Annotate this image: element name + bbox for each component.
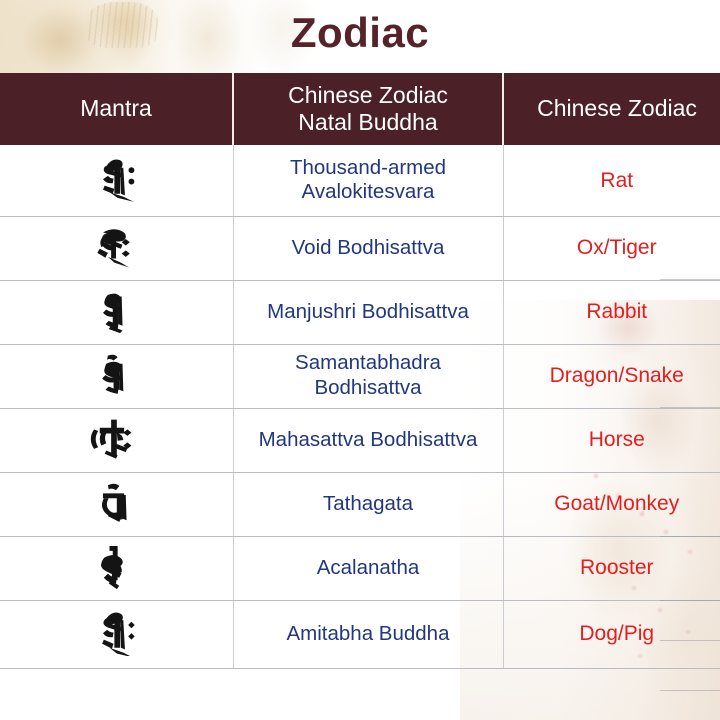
chinese-zodiac-cell: Dragon/Snake [503, 344, 720, 408]
chinese-zodiac-cell: Goat/Monkey [503, 472, 720, 536]
table-row: Manjushri BodhisattvaRabbit [0, 280, 720, 344]
table-body: Thousand-armedAvalokitesvaraRat Void Bod… [0, 145, 720, 668]
mantra-cell [0, 600, 233, 668]
title-bar: Zodiac [0, 0, 720, 72]
siddham-seed-syllable-tram-icon [90, 221, 142, 270]
table-header-row: Mantra Chinese Zodiac Natal Buddha Chine… [0, 73, 720, 145]
natal-buddha-line2: Bodhisattva [314, 376, 421, 399]
natal-buddha-cell: Amitabha Buddha [233, 600, 503, 668]
chinese-zodiac-cell: Rat [503, 145, 720, 216]
natal-buddha-cell: Thousand-armedAvalokitesvara [233, 145, 503, 216]
column-header-natal-buddha-line1: Chinese Zodiac [288, 82, 448, 108]
zodiac-table: Mantra Chinese Zodiac Natal Buddha Chine… [0, 73, 720, 669]
siddham-seed-syllable-man-icon [90, 285, 142, 334]
natal-buddha-line1: Samantabhadra [295, 351, 441, 374]
natal-buddha-line1: Tathagata [323, 492, 413, 515]
natal-buddha-line1: Void Bodhisattva [292, 236, 445, 259]
chinese-zodiac-cell: Rooster [503, 536, 720, 600]
table-row: Mahasattva BodhisattvaHorse [0, 408, 720, 472]
natal-buddha-line1: Amitabha Buddha [287, 622, 450, 645]
siddham-seed-syllable-hrih-icon [90, 153, 142, 202]
mantra-cell [0, 280, 233, 344]
natal-buddha-cell: Acalanatha [233, 536, 503, 600]
column-header-chinese-zodiac: Chinese Zodiac [503, 73, 720, 145]
mantra-cell [0, 344, 233, 408]
chinese-zodiac-cell: Horse [503, 408, 720, 472]
natal-buddha-line1: Acalanatha [317, 556, 420, 579]
table-row: Amitabha BuddhaDog/Pig [0, 600, 720, 668]
natal-buddha-line2: Avalokitesvara [302, 180, 435, 203]
table-header: Mantra Chinese Zodiac Natal Buddha Chine… [0, 73, 720, 145]
mantra-cell [0, 536, 233, 600]
chinese-zodiac-cell: Rabbit [503, 280, 720, 344]
siddham-seed-syllable-vam-icon [90, 477, 142, 526]
table-row: AcalanathaRooster [0, 536, 720, 600]
natal-buddha-line1: Manjushri Bodhisattva [267, 300, 469, 323]
mantra-cell [0, 216, 233, 280]
natal-buddha-cell: Void Bodhisattva [233, 216, 503, 280]
mantra-cell [0, 145, 233, 216]
page-title: Zodiac [291, 12, 429, 60]
siddham-seed-syllable-am-icon [90, 349, 142, 398]
column-header-natal-buddha-line2: Natal Buddha [298, 109, 437, 135]
rule-extension [660, 690, 720, 691]
zodiac-infographic: Zodiac Mantra Chinese Zodiac Natal Buddh… [0, 0, 720, 720]
table-row: Void BodhisattvaOx/Tiger [0, 216, 720, 280]
siddham-seed-syllable-sa-icon [90, 413, 142, 462]
table-row: TathagataGoat/Monkey [0, 472, 720, 536]
table-row: Thousand-armedAvalokitesvaraRat [0, 145, 720, 216]
siddham-seed-syllable-ham-icon [90, 541, 142, 590]
natal-buddha-cell: Mahasattva Bodhisattva [233, 408, 503, 472]
column-header-mantra: Mantra [0, 73, 233, 145]
natal-buddha-cell: SamantabhadraBodhisattva [233, 344, 503, 408]
siddham-seed-syllable-hrih-amitabha-icon [90, 607, 142, 656]
natal-buddha-cell: Manjushri Bodhisattva [233, 280, 503, 344]
chinese-zodiac-cell: Ox/Tiger [503, 216, 720, 280]
table-row: SamantabhadraBodhisattvaDragon/Snake [0, 344, 720, 408]
natal-buddha-line1: Thousand-armed [290, 156, 446, 179]
mantra-cell [0, 472, 233, 536]
column-header-natal-buddha: Chinese Zodiac Natal Buddha [233, 73, 503, 145]
natal-buddha-cell: Tathagata [233, 472, 503, 536]
natal-buddha-line1: Mahasattva Bodhisattva [259, 428, 478, 451]
chinese-zodiac-cell: Dog/Pig [503, 600, 720, 668]
mantra-cell [0, 408, 233, 472]
